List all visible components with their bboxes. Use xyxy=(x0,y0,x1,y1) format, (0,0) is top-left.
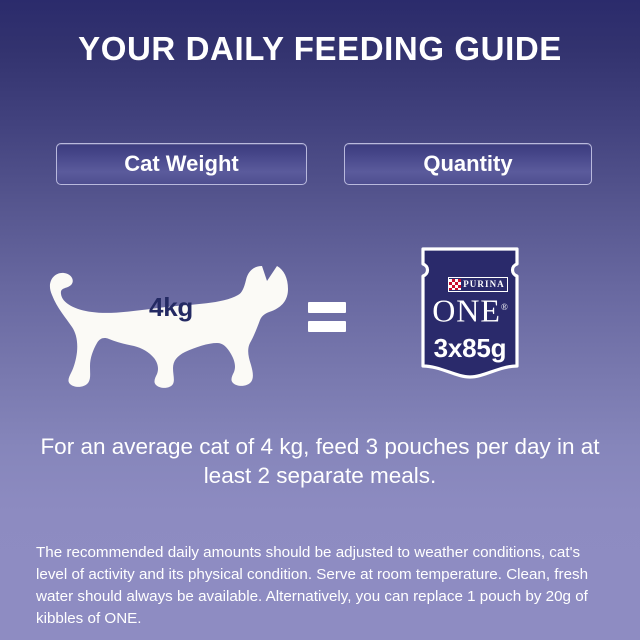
page-title: YOUR DAILY FEEDING GUIDE xyxy=(0,30,640,68)
one-wordmark: ONE® xyxy=(414,290,526,328)
fineprint-text: The recommended daily amounts should be … xyxy=(36,542,610,630)
equals-bar-top xyxy=(308,302,346,313)
purina-checkerboard-icon xyxy=(449,279,461,290)
equals-bar-bottom xyxy=(308,321,346,332)
purina-wordmark: PURINA xyxy=(461,279,507,290)
column-header-quantity: Quantity xyxy=(344,143,592,185)
feeding-guide-infographic: YOUR DAILY FEEDING GUIDE Cat Weight Quan… xyxy=(0,0,640,640)
pouch-pack-size: 3x85g xyxy=(414,333,526,364)
cat-silhouette-icon xyxy=(36,248,306,398)
one-wordmark-text: ONE xyxy=(432,293,501,329)
pouch-label: PURINA ONE® 3x85g xyxy=(414,240,526,390)
equals-sign xyxy=(308,300,346,334)
trademark-symbol: ® xyxy=(501,302,508,312)
column-header-cat-weight-label: Cat Weight xyxy=(124,151,238,177)
cat-illustration: 4kg xyxy=(36,248,306,398)
fineprint-disclaimer: The recommended daily amounts should be … xyxy=(36,542,610,630)
column-header-cat-weight: Cat Weight xyxy=(56,143,307,185)
feeding-recommendation-text: For an average cat of 4 kg, feed 3 pouch… xyxy=(40,432,600,490)
column-header-quantity-label: Quantity xyxy=(423,151,512,177)
product-pouch: PURINA ONE® 3x85g xyxy=(414,240,526,390)
